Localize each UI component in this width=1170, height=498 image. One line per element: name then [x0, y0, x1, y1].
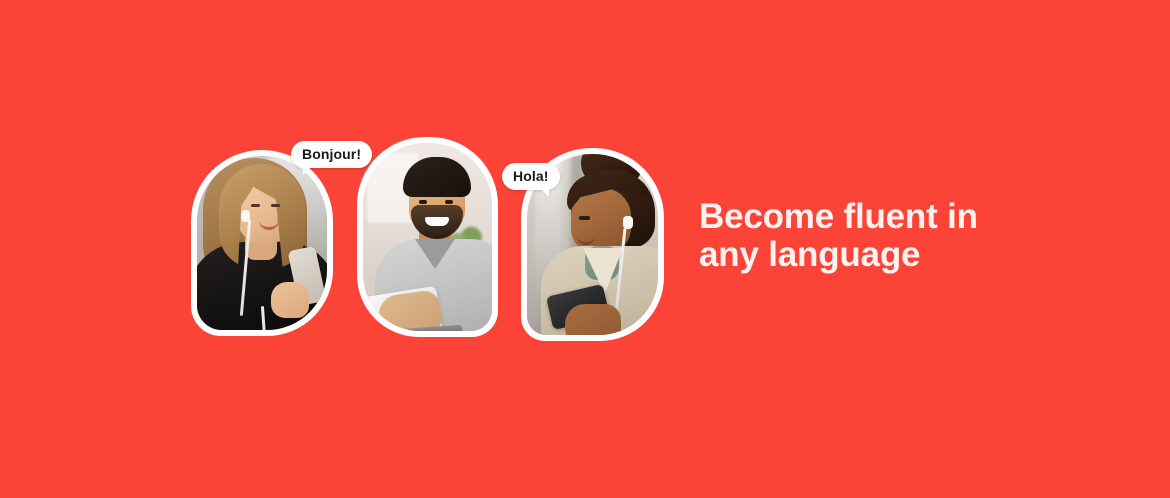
photo-1-image: [197, 156, 327, 330]
photo-collage: Bonjour! Hola!: [0, 0, 700, 498]
photo-2-scene: [363, 143, 492, 331]
eye-right: [271, 204, 280, 207]
headline-line-2: any language: [699, 236, 1099, 274]
photo-card-woman-phone: [191, 150, 333, 336]
eye: [579, 216, 590, 220]
eyebrow-left: [417, 193, 430, 196]
photo-1-scene: [197, 156, 327, 330]
hero-headline: Become fluent in any language: [699, 198, 1099, 274]
eye-left: [251, 204, 260, 207]
photo-2-image: [363, 143, 492, 331]
speech-bubble-bonjour: Bonjour!: [291, 141, 372, 168]
photo-card-man-laptop: [357, 137, 498, 337]
headline-line-1: Become fluent in: [699, 198, 1099, 236]
hand: [565, 304, 621, 335]
eye-right: [445, 200, 453, 204]
eyebrow-right: [443, 193, 456, 196]
eye-left: [419, 200, 427, 204]
speech-bubble-hola: Hola!: [502, 163, 560, 190]
earbud-icon: [623, 216, 633, 229]
language-learning-hero-banner: Bonjour! Hola! Become fluent in any lang…: [0, 0, 1170, 498]
hand: [271, 282, 309, 318]
smile: [425, 217, 449, 226]
